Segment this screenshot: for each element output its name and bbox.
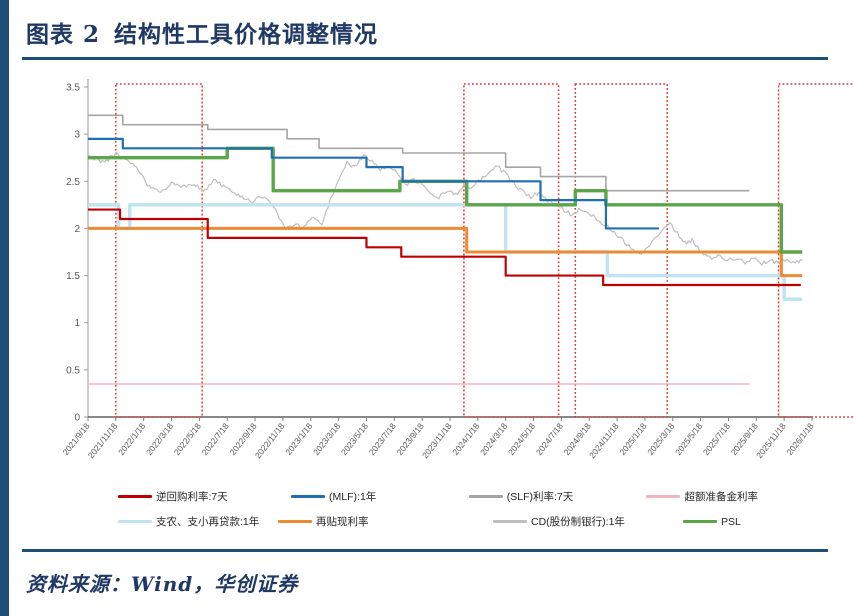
chart-legend: 逆回购利率:7天 (MLF):1年 (SLF)利率:7天 超额准备金利率 支农、…	[118, 484, 758, 534]
legend-item-mlf-1y[interactable]: (MLF):1年	[291, 489, 469, 504]
series-line	[88, 148, 802, 252]
x-tick-label: 2024/7/18	[534, 421, 565, 457]
y-tick-label: 3	[74, 130, 80, 141]
source-row: 资料来源：Wind，华创证券	[26, 562, 298, 602]
legend-label-agri-small-relending: 支农、支小再贷款:1年	[156, 514, 259, 529]
legend-item-psl[interactable]: PSL	[683, 516, 741, 528]
legend-item-agri-small-relending[interactable]: 支农、支小再贷款:1年	[118, 514, 278, 529]
y-tick-label: 2.5	[66, 177, 80, 188]
legend-item-repo-7d[interactable]: 逆回购利率:7天	[118, 489, 291, 504]
y-tick-label: 1	[74, 318, 80, 329]
x-tick-label: 2025/7/18	[701, 421, 732, 457]
series-line	[88, 228, 802, 275]
x-tick-label: 2025/5/18	[673, 421, 704, 457]
x-tick-label: 2023/1/18	[283, 421, 314, 457]
highlight-box	[116, 84, 202, 417]
legend-label-excess-reserve: 超额准备金利率	[684, 489, 758, 504]
x-tick-label: 2022/7/18	[200, 421, 231, 457]
x-tick-label: 2022/3/18	[144, 421, 175, 457]
y-tick-label: 0	[74, 413, 80, 424]
title-divider-top	[22, 57, 828, 60]
legend-label-cd-joint-stock-1y: CD(股份制银行):1年	[531, 514, 625, 529]
series-line	[88, 115, 749, 190]
x-tick-label: 2022/5/18	[172, 421, 203, 457]
legend-swatch-psl	[683, 520, 717, 523]
y-tick-label: 0.5	[66, 365, 80, 376]
x-tick-label: 2022/1/18	[116, 421, 147, 457]
x-tick-label: 2026/1/18	[784, 421, 815, 457]
legend-swatch-agri-small-relending	[118, 520, 152, 523]
legend-swatch-cd-joint-stock-1y	[493, 520, 527, 523]
x-tick-label: 2024/5/18	[506, 421, 537, 457]
x-tick-label: 2024/1/18	[450, 421, 481, 457]
x-tick-label: 2024/3/18	[478, 421, 509, 457]
legend-label-psl: PSL	[721, 516, 741, 528]
legend-item-rediscount[interactable]: 再贴现利率	[278, 514, 493, 529]
legend-label-slf-7d: (SLF)利率:7天	[507, 489, 574, 504]
figure-title-row: 图表 2 结构性工具价格调整情况	[26, 10, 834, 54]
series-line	[88, 152, 802, 265]
legend-label-rediscount: 再贴现利率	[316, 514, 369, 529]
legend-swatch-rediscount	[278, 520, 312, 523]
x-tick-label: 2023/7/18	[367, 421, 398, 457]
legend-item-excess-reserve[interactable]: 超额准备金利率	[646, 489, 758, 504]
legend-row-1: 逆回购利率:7天 (MLF):1年 (SLF)利率:7天 超额准备金利率	[118, 484, 758, 509]
x-tick-label: 2025/1/18	[617, 421, 648, 457]
legend-label-mlf-1y: (MLF):1年	[329, 489, 376, 504]
page-title: 结构性工具价格调整情况	[114, 15, 378, 49]
legend-swatch-mlf-1y	[291, 495, 325, 498]
title-divider-bottom	[22, 549, 828, 552]
y-tick-label: 2	[74, 224, 80, 235]
source-note: 资料来源：Wind，华创证券	[26, 568, 298, 597]
legend-swatch-excess-reserve	[646, 495, 680, 498]
line-chart: 00.511.522.533.52021/9/182021/11/182022/…	[0, 62, 854, 542]
x-tick-label: 2023/3/18	[311, 421, 342, 457]
legend-label-repo-7d: 逆回购利率:7天	[156, 489, 228, 504]
y-tick-label: 1.5	[66, 271, 80, 282]
x-tick-label: 2025/3/18	[645, 421, 676, 457]
series-line	[88, 210, 801, 285]
legend-row-2: 支农、支小再贷款:1年 再贴现利率 CD(股份制银行):1年 PSL	[118, 509, 758, 534]
legend-swatch-slf-7d	[469, 495, 503, 498]
legend-item-slf-7d[interactable]: (SLF)利率:7天	[469, 489, 647, 504]
y-tick-label: 3.5	[66, 83, 80, 94]
x-tick-label: 2023/5/18	[339, 421, 370, 457]
legend-item-cd-joint-stock-1y[interactable]: CD(股份制银行):1年	[493, 514, 683, 529]
chart-canvas: 00.511.522.533.52021/9/182021/11/182022/…	[0, 62, 854, 542]
legend-swatch-repo-7d	[118, 495, 152, 498]
figure-number: 图表 2	[26, 15, 100, 49]
